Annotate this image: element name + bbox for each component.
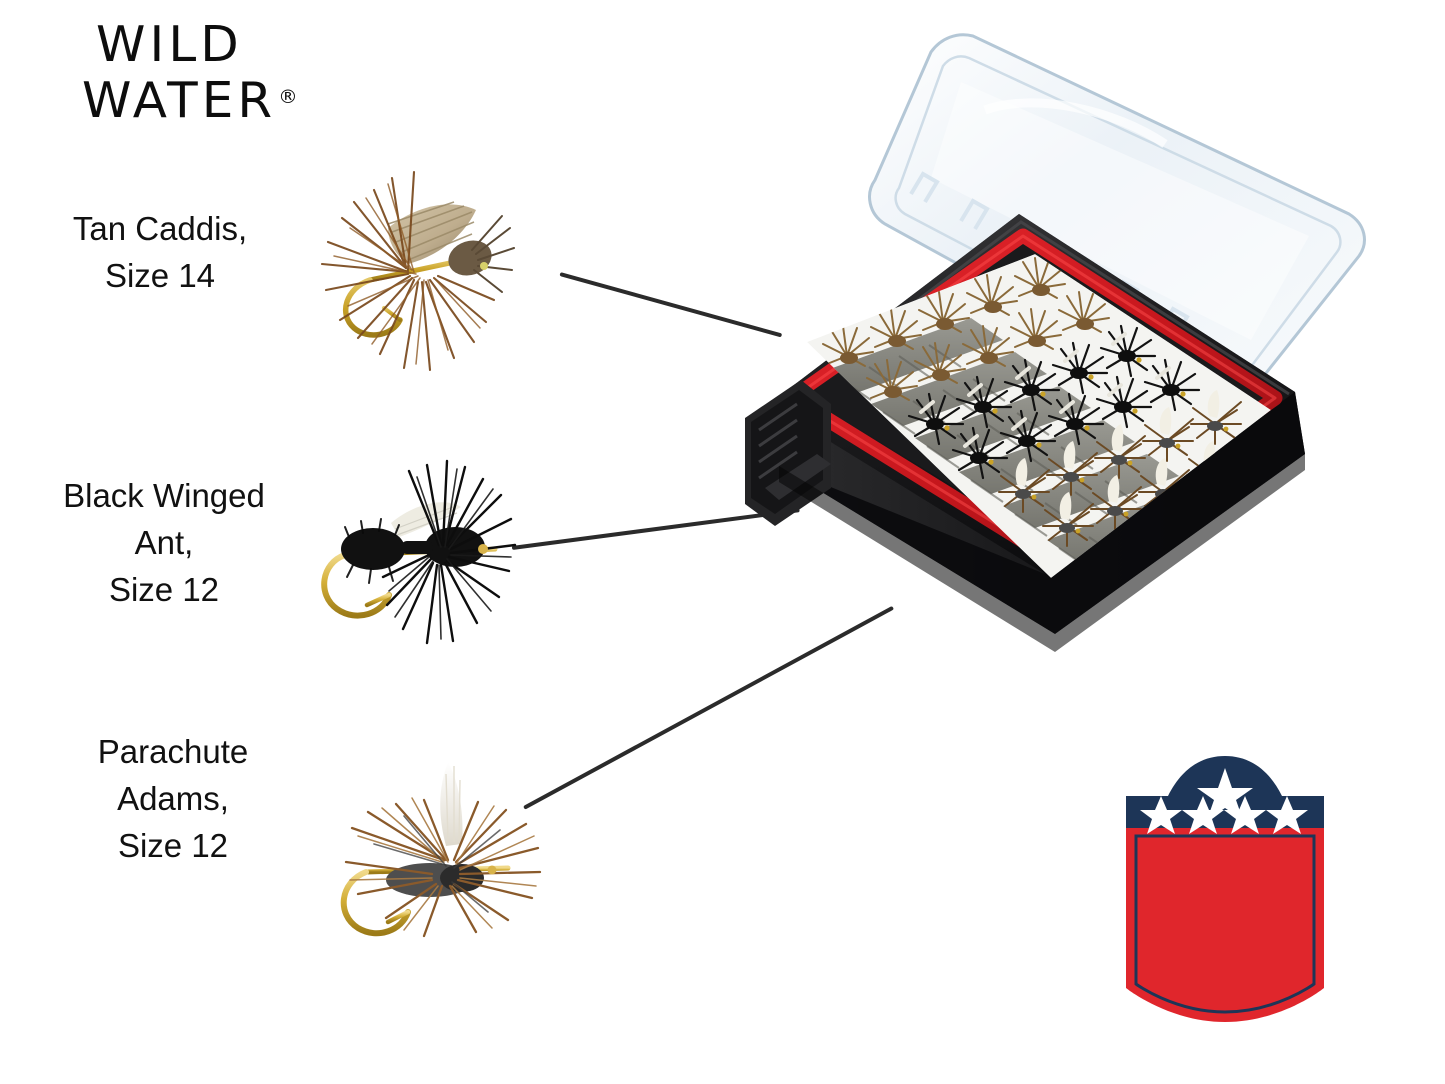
product-image-canvas: WILD WATER® Tan Caddis, Size 14 Black Wi… [0,0,1445,1084]
badge-text-and: AND [0,125,1445,147]
fly-parachute-adams-illustration [312,740,557,950]
usa-badge [1122,752,1328,1040]
callout-label-black-winged-ant: Black Winged Ant, Size 12 [14,472,314,613]
badge-text-designed: DESIGNED [1122,92,1445,114]
brand-logo-word-water: WATER [82,72,276,129]
badge-text-inthe: INTHE [0,191,1445,213]
brand-logo-line-2: WATER® [82,71,402,127]
callout-label-parachute-adams: Parachute Adams, Size 12 [38,728,308,869]
registered-trademark-icon: ® [278,86,297,108]
fly-box-illustration [735,18,1375,698]
badge-text-supported: SUPPORTED [0,158,1445,180]
fly-black-winged-ant-illustration [305,445,530,655]
brand-logo: WILD WATER® [96,18,396,128]
badge-text-usa: USA [0,222,1445,278]
brand-logo-line-1: WILD [96,18,402,71]
